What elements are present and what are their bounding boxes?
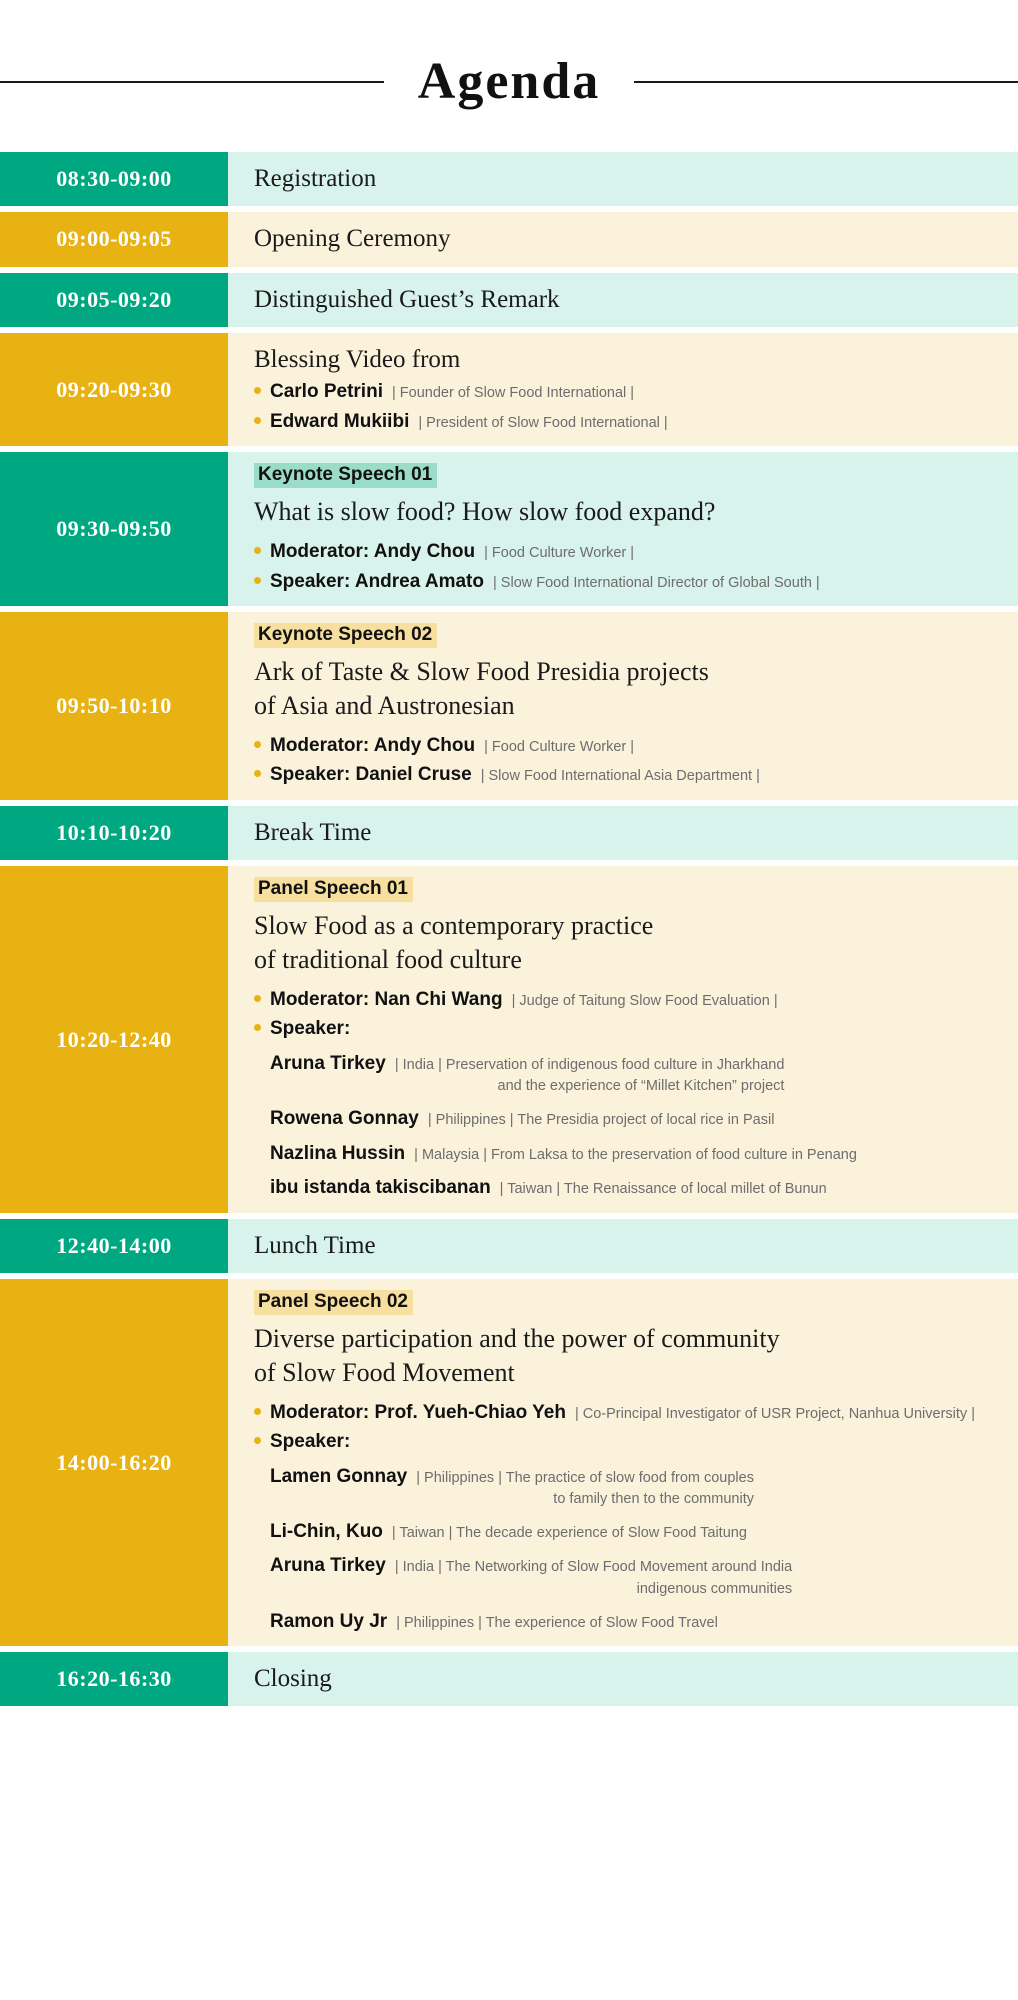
session-title: Lunch Time <box>254 1230 1018 1261</box>
person-meta: | President of Slow Food International | <box>418 413 667 434</box>
agenda-time: 12:40-14:00 <box>0 1219 228 1273</box>
bullet-line: Edward Mukiibi| President of Slow Food I… <box>254 409 1018 435</box>
page-header: Agenda <box>0 0 1018 152</box>
session-title: Break Time <box>254 817 1018 848</box>
agenda-content: Panel Speech 01Slow Food as a contempora… <box>228 866 1018 1213</box>
session-title-line: Slow Food as a contemporary practice <box>254 909 1018 943</box>
agenda-content: Closing <box>228 1652 1018 1706</box>
agenda-content: Break Time <box>228 806 1018 860</box>
bullet-dot-icon <box>254 1437 261 1444</box>
person-meta: | Slow Food International Asia Departmen… <box>481 766 760 787</box>
bullet-dot-icon <box>254 1024 261 1031</box>
speaker-name: Lamen Gonnay <box>270 1464 407 1490</box>
session-title: Opening Ceremony <box>254 223 1018 254</box>
bullet-line: Carlo Petrini| Founder of Slow Food Inte… <box>254 379 1018 405</box>
speaker-meta-line1: | Philippines | The Presidia project of … <box>428 1112 775 1128</box>
session-title: Ark of Taste & Slow Food Presidia projec… <box>254 655 1018 723</box>
speaker-name: ibu istanda takiscibanan <box>270 1175 491 1201</box>
bullet-line: Speaker: <box>254 1429 1018 1455</box>
speaker-name: Nazlina Hussin <box>270 1141 405 1167</box>
person-name: Edward Mukiibi <box>270 409 409 435</box>
speaker-meta-line1: | Malaysia | From Laksa to the preservat… <box>414 1147 857 1163</box>
agenda-row: 09:30-09:50Keynote Speech 01What is slow… <box>0 452 1018 606</box>
bullet-line: Speaker: Daniel Cruse| Slow Food Interna… <box>254 762 1018 788</box>
agenda-row: 10:10-10:20Break Time <box>0 806 1018 860</box>
speaker-name: Li-Chin, Kuo <box>270 1519 383 1545</box>
session-title: Distinguished Guest’s Remark <box>254 284 1018 315</box>
agenda-content: Blessing Video fromCarlo Petrini| Founde… <box>228 333 1018 447</box>
speaker-meta-line1: | Philippines | The practice of slow foo… <box>416 1470 754 1486</box>
speaker-name: Aruna Tirkey <box>270 1553 386 1579</box>
speaker-entry: Ramon Uy Jr| Philippines | The experienc… <box>270 1609 1018 1635</box>
person-name: Moderator: Nan Chi Wang <box>270 987 503 1013</box>
session-title-line: Diverse participation and the power of c… <box>254 1322 1018 1356</box>
speaker-entry: Li-Chin, Kuo| Taiwan | The decade experi… <box>270 1519 1018 1545</box>
speaker-entry: Rowena Gonnay| Philippines | The Presidi… <box>270 1106 1018 1132</box>
person-name: Moderator: Andy Chou <box>270 733 475 759</box>
bullet-line: Moderator: Andy Chou| Food Culture Worke… <box>254 539 1018 565</box>
speaker-meta: | Taiwan | The Renaissance of local mill… <box>500 1179 827 1200</box>
bullet-dot-icon <box>254 995 261 1002</box>
agenda-row: 09:50-10:10Keynote Speech 02Ark of Taste… <box>0 612 1018 800</box>
person-name: Speaker: Daniel Cruse <box>270 762 472 788</box>
person-name: Speaker: <box>270 1016 350 1042</box>
person-name: Speaker: <box>270 1429 350 1455</box>
speaker-meta-line1: | Taiwan | The Renaissance of local mill… <box>500 1181 827 1197</box>
session-title: What is slow food? How slow food expand? <box>254 495 1018 529</box>
session-title: Diverse participation and the power of c… <box>254 1322 1018 1390</box>
agenda-row: 14:00-16:20Panel Speech 02Diverse partic… <box>0 1279 1018 1646</box>
person-name: Speaker: Andrea Amato <box>270 569 484 595</box>
speaker-meta-line2: indigenous communities <box>395 1579 792 1600</box>
agenda-time: 09:20-09:30 <box>0 333 228 447</box>
bullet-line: Speaker: Andrea Amato| Slow Food Interna… <box>254 569 1018 595</box>
page-title: Agenda <box>418 56 600 108</box>
speaker-meta-line2: and the experience of “Millet Kitchen” p… <box>395 1076 785 1097</box>
bullet-line: Moderator: Prof. Yueh-Chiao Yeh| Co-Prin… <box>254 1400 1018 1426</box>
bullet-line: Speaker: <box>254 1016 1018 1042</box>
agenda-content: Opening Ceremony <box>228 212 1018 266</box>
agenda-row: 10:20-12:40Panel Speech 01Slow Food as a… <box>0 866 1018 1213</box>
agenda-row: 09:05-09:20Distinguished Guest’s Remark <box>0 273 1018 327</box>
session-title-line: What is slow food? How slow food expand? <box>254 495 1018 529</box>
session-title-line: of Asia and Austronesian <box>254 689 1018 723</box>
speaker-entry: ibu istanda takiscibanan| Taiwan | The R… <box>270 1175 1018 1201</box>
bullet-dot-icon <box>254 577 261 584</box>
agenda-table: 08:30-09:00Registration09:00-09:05Openin… <box>0 152 1018 1742</box>
header-rule-left <box>0 81 384 83</box>
speaker-entry: Aruna Tirkey| India | The Networking of … <box>270 1553 1018 1599</box>
bullet-line: Moderator: Nan Chi Wang| Judge of Taitun… <box>254 987 1018 1013</box>
speaker-meta: | India | Preservation of indigenous foo… <box>395 1055 785 1097</box>
speaker-entry: Lamen Gonnay| Philippines | The practice… <box>270 1464 1018 1510</box>
bullet-dot-icon <box>254 417 261 424</box>
session-title-line: of Slow Food Movement <box>254 1356 1018 1390</box>
agenda-time: 16:20-16:30 <box>0 1652 228 1706</box>
speaker-meta-line1: | India | Preservation of indigenous foo… <box>395 1057 785 1073</box>
agenda-time: 09:50-10:10 <box>0 612 228 800</box>
person-meta: | Food Culture Worker | <box>484 737 634 758</box>
session-tag: Panel Speech 02 <box>254 1290 413 1315</box>
session-title: Blessing Video from <box>254 344 1018 375</box>
agenda-content: Panel Speech 02Diverse participation and… <box>228 1279 1018 1646</box>
person-meta: | Food Culture Worker | <box>484 543 634 564</box>
agenda-row: 16:20-16:30Closing <box>0 1652 1018 1706</box>
person-meta: | Slow Food International Director of Gl… <box>493 573 820 594</box>
speaker-meta: | India | The Networking of Slow Food Mo… <box>395 1557 792 1599</box>
agenda-content: Registration <box>228 152 1018 206</box>
bullet-line: Moderator: Andy Chou| Food Culture Worke… <box>254 733 1018 759</box>
speaker-name: Ramon Uy Jr <box>270 1609 387 1635</box>
speaker-meta: | Malaysia | From Laksa to the preservat… <box>414 1145 857 1166</box>
agenda-row: 12:40-14:00Lunch Time <box>0 1219 1018 1273</box>
person-meta: | Founder of Slow Food International | <box>392 383 634 404</box>
agenda-content: Lunch Time <box>228 1219 1018 1273</box>
session-title: Registration <box>254 163 1018 194</box>
speaker-meta-line1: | Taiwan | The decade experience of Slow… <box>392 1525 747 1541</box>
session-title-line: of traditional food culture <box>254 943 1018 977</box>
session-title: Closing <box>254 1663 1018 1694</box>
session-tag: Keynote Speech 02 <box>254 623 437 648</box>
speaker-meta: | Philippines | The practice of slow foo… <box>416 1468 754 1510</box>
agenda-time: 14:00-16:20 <box>0 1279 228 1646</box>
person-name: Moderator: Prof. Yueh-Chiao Yeh <box>270 1400 566 1426</box>
speaker-entry: Aruna Tirkey| India | Preservation of in… <box>270 1051 1018 1097</box>
bullet-dot-icon <box>254 741 261 748</box>
bullet-dot-icon <box>254 547 261 554</box>
agenda-content: Keynote Speech 02Ark of Taste & Slow Foo… <box>228 612 1018 800</box>
speaker-entry: Nazlina Hussin| Malaysia | From Laksa to… <box>270 1141 1018 1167</box>
speaker-name: Rowena Gonnay <box>270 1106 419 1132</box>
session-tag: Keynote Speech 01 <box>254 463 437 488</box>
person-meta: | Co-Principal Investigator of USR Proje… <box>575 1404 975 1425</box>
agenda-row: 08:30-09:00Registration <box>0 152 1018 206</box>
person-meta: | Judge of Taitung Slow Food Evaluation … <box>512 991 778 1012</box>
speaker-name: Aruna Tirkey <box>270 1051 386 1077</box>
speaker-meta: | Philippines | The experience of Slow F… <box>396 1613 718 1634</box>
agenda-row: 09:20-09:30Blessing Video fromCarlo Petr… <box>0 333 1018 447</box>
header-rule-right <box>634 81 1018 83</box>
agenda-content: Distinguished Guest’s Remark <box>228 273 1018 327</box>
speaker-meta-line1: | India | The Networking of Slow Food Mo… <box>395 1559 792 1575</box>
agenda-content: Keynote Speech 01What is slow food? How … <box>228 452 1018 606</box>
agenda-time: 09:00-09:05 <box>0 212 228 266</box>
session-title-line: Ark of Taste & Slow Food Presidia projec… <box>254 655 1018 689</box>
agenda-time: 10:20-12:40 <box>0 866 228 1213</box>
speaker-meta-line2: to family then to the community <box>416 1489 754 1510</box>
bullet-dot-icon <box>254 1408 261 1415</box>
person-name: Carlo Petrini <box>270 379 383 405</box>
person-name: Moderator: Andy Chou <box>270 539 475 565</box>
speaker-meta-line1: | Philippines | The experience of Slow F… <box>396 1615 718 1631</box>
agenda-time: 09:05-09:20 <box>0 273 228 327</box>
agenda-time: 09:30-09:50 <box>0 452 228 606</box>
session-tag: Panel Speech 01 <box>254 877 413 902</box>
speaker-meta: | Taiwan | The decade experience of Slow… <box>392 1523 747 1544</box>
session-title: Slow Food as a contemporary practiceof t… <box>254 909 1018 977</box>
agenda-time: 10:10-10:20 <box>0 806 228 860</box>
bullet-dot-icon <box>254 770 261 777</box>
agenda-row: 09:00-09:05Opening Ceremony <box>0 212 1018 266</box>
bullet-dot-icon <box>254 387 261 394</box>
speaker-meta: | Philippines | The Presidia project of … <box>428 1110 775 1131</box>
agenda-time: 08:30-09:00 <box>0 152 228 206</box>
